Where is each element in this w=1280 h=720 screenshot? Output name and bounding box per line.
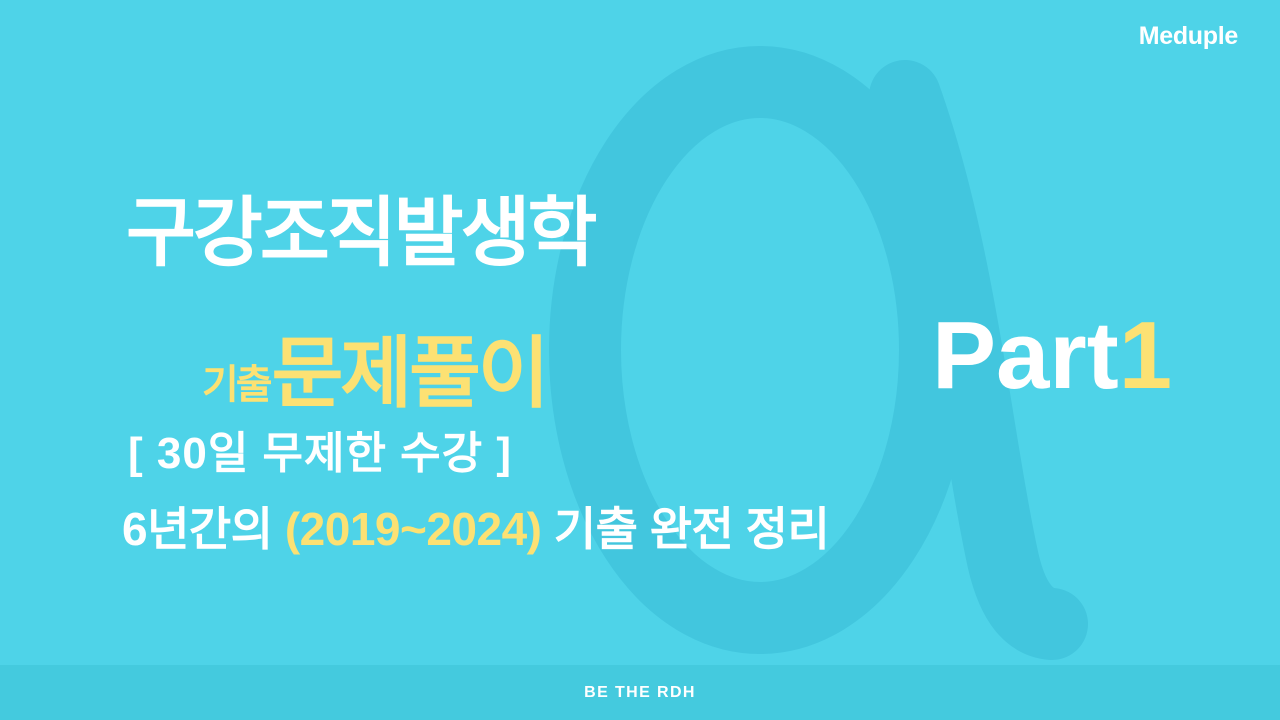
footer-tagline: BE THE RDH xyxy=(0,665,1280,720)
title-slide: Meduple 구강조직발생학 기출 문제풀이 Part 1 [ 30일 무제한… xyxy=(0,0,1280,720)
headline-group: 구강조직발생학 기출 문제풀이 Part 1 [ 30일 무제한 수강 ] 6년… xyxy=(0,0,1280,720)
subtitle-large: 문제풀이 xyxy=(272,334,547,412)
subtitle-row: 기출 문제풀이 Part 1 xyxy=(126,282,1186,412)
subtitle-small: 기출 xyxy=(202,365,270,405)
part-label-group: Part 1 xyxy=(932,308,1173,404)
part-number: 1 xyxy=(1119,308,1173,404)
coverage-prefix: 6년간의 xyxy=(122,503,273,555)
coverage-suffix: 기출 완전 정리 xyxy=(554,503,829,555)
coverage-year-range: (2019~2024) xyxy=(285,503,542,555)
access-period-text: [ 30일 무제한 수강 ] xyxy=(128,432,512,476)
part-word: Part xyxy=(932,308,1119,404)
coverage-line: 6년간의 (2019~2024) 기출 완전 정리 xyxy=(122,506,829,552)
subtitle-group: 기출 문제풀이 xyxy=(202,334,547,412)
page-title: 구강조직발생학 xyxy=(126,196,594,272)
